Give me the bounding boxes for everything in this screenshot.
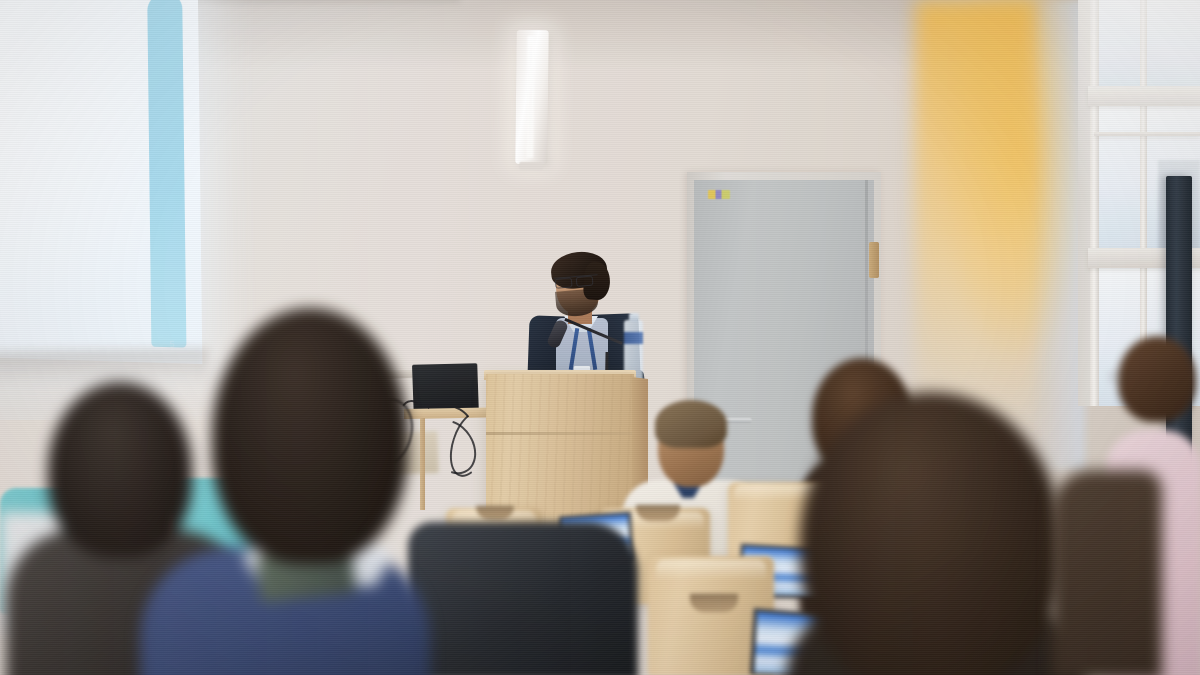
slide-line-3: ree environment decarbonizing	[0, 145, 101, 164]
projected-slide: ecosystems, in support of the n a wide r…	[0, 0, 202, 364]
slide-text-block: ecosystems, in support of the n a wide r…	[0, 36, 103, 307]
slide-line-1: ecosystems, in support of the	[0, 36, 100, 63]
lectern-seam	[486, 432, 634, 435]
chair-handle-cutout	[690, 594, 738, 612]
window-pane-top	[1094, 0, 1200, 90]
hair	[655, 400, 727, 448]
conference-photo-scene: ecosystems, in support of the n a wide r…	[0, 0, 1200, 675]
sconce-highlight	[526, 36, 534, 158]
draped-jacket	[408, 522, 638, 675]
sunlight-core	[915, 0, 1035, 430]
door-sticker-icon	[708, 190, 730, 199]
head	[48, 382, 192, 558]
head	[800, 392, 1062, 675]
chair-handle-cutout	[636, 505, 680, 521]
window-jamb-left	[1090, 0, 1099, 406]
wall-sconce-light	[515, 30, 548, 164]
bottle-cap	[629, 313, 639, 321]
slide-line-4: ne value chain and enable	[0, 199, 102, 215]
head	[212, 308, 408, 564]
sconce-base	[519, 162, 543, 170]
chair-highlight	[656, 560, 766, 580]
eyeglasses-icon	[1110, 372, 1130, 381]
slide-line-2: n a wide range of industrial	[0, 91, 101, 114]
slide-line-5: and strategic sectors, paying	[0, 252, 103, 269]
bottle-label	[624, 332, 643, 344]
door-hinge-plate	[869, 242, 879, 278]
audience-shoulder	[1052, 470, 1162, 675]
slide-accent-bar	[147, 0, 186, 348]
window-muntin	[1094, 132, 1200, 136]
sky-view	[1094, 0, 1200, 90]
window-transom-upper	[1088, 86, 1200, 106]
slide-page-number: 5	[170, 339, 175, 349]
